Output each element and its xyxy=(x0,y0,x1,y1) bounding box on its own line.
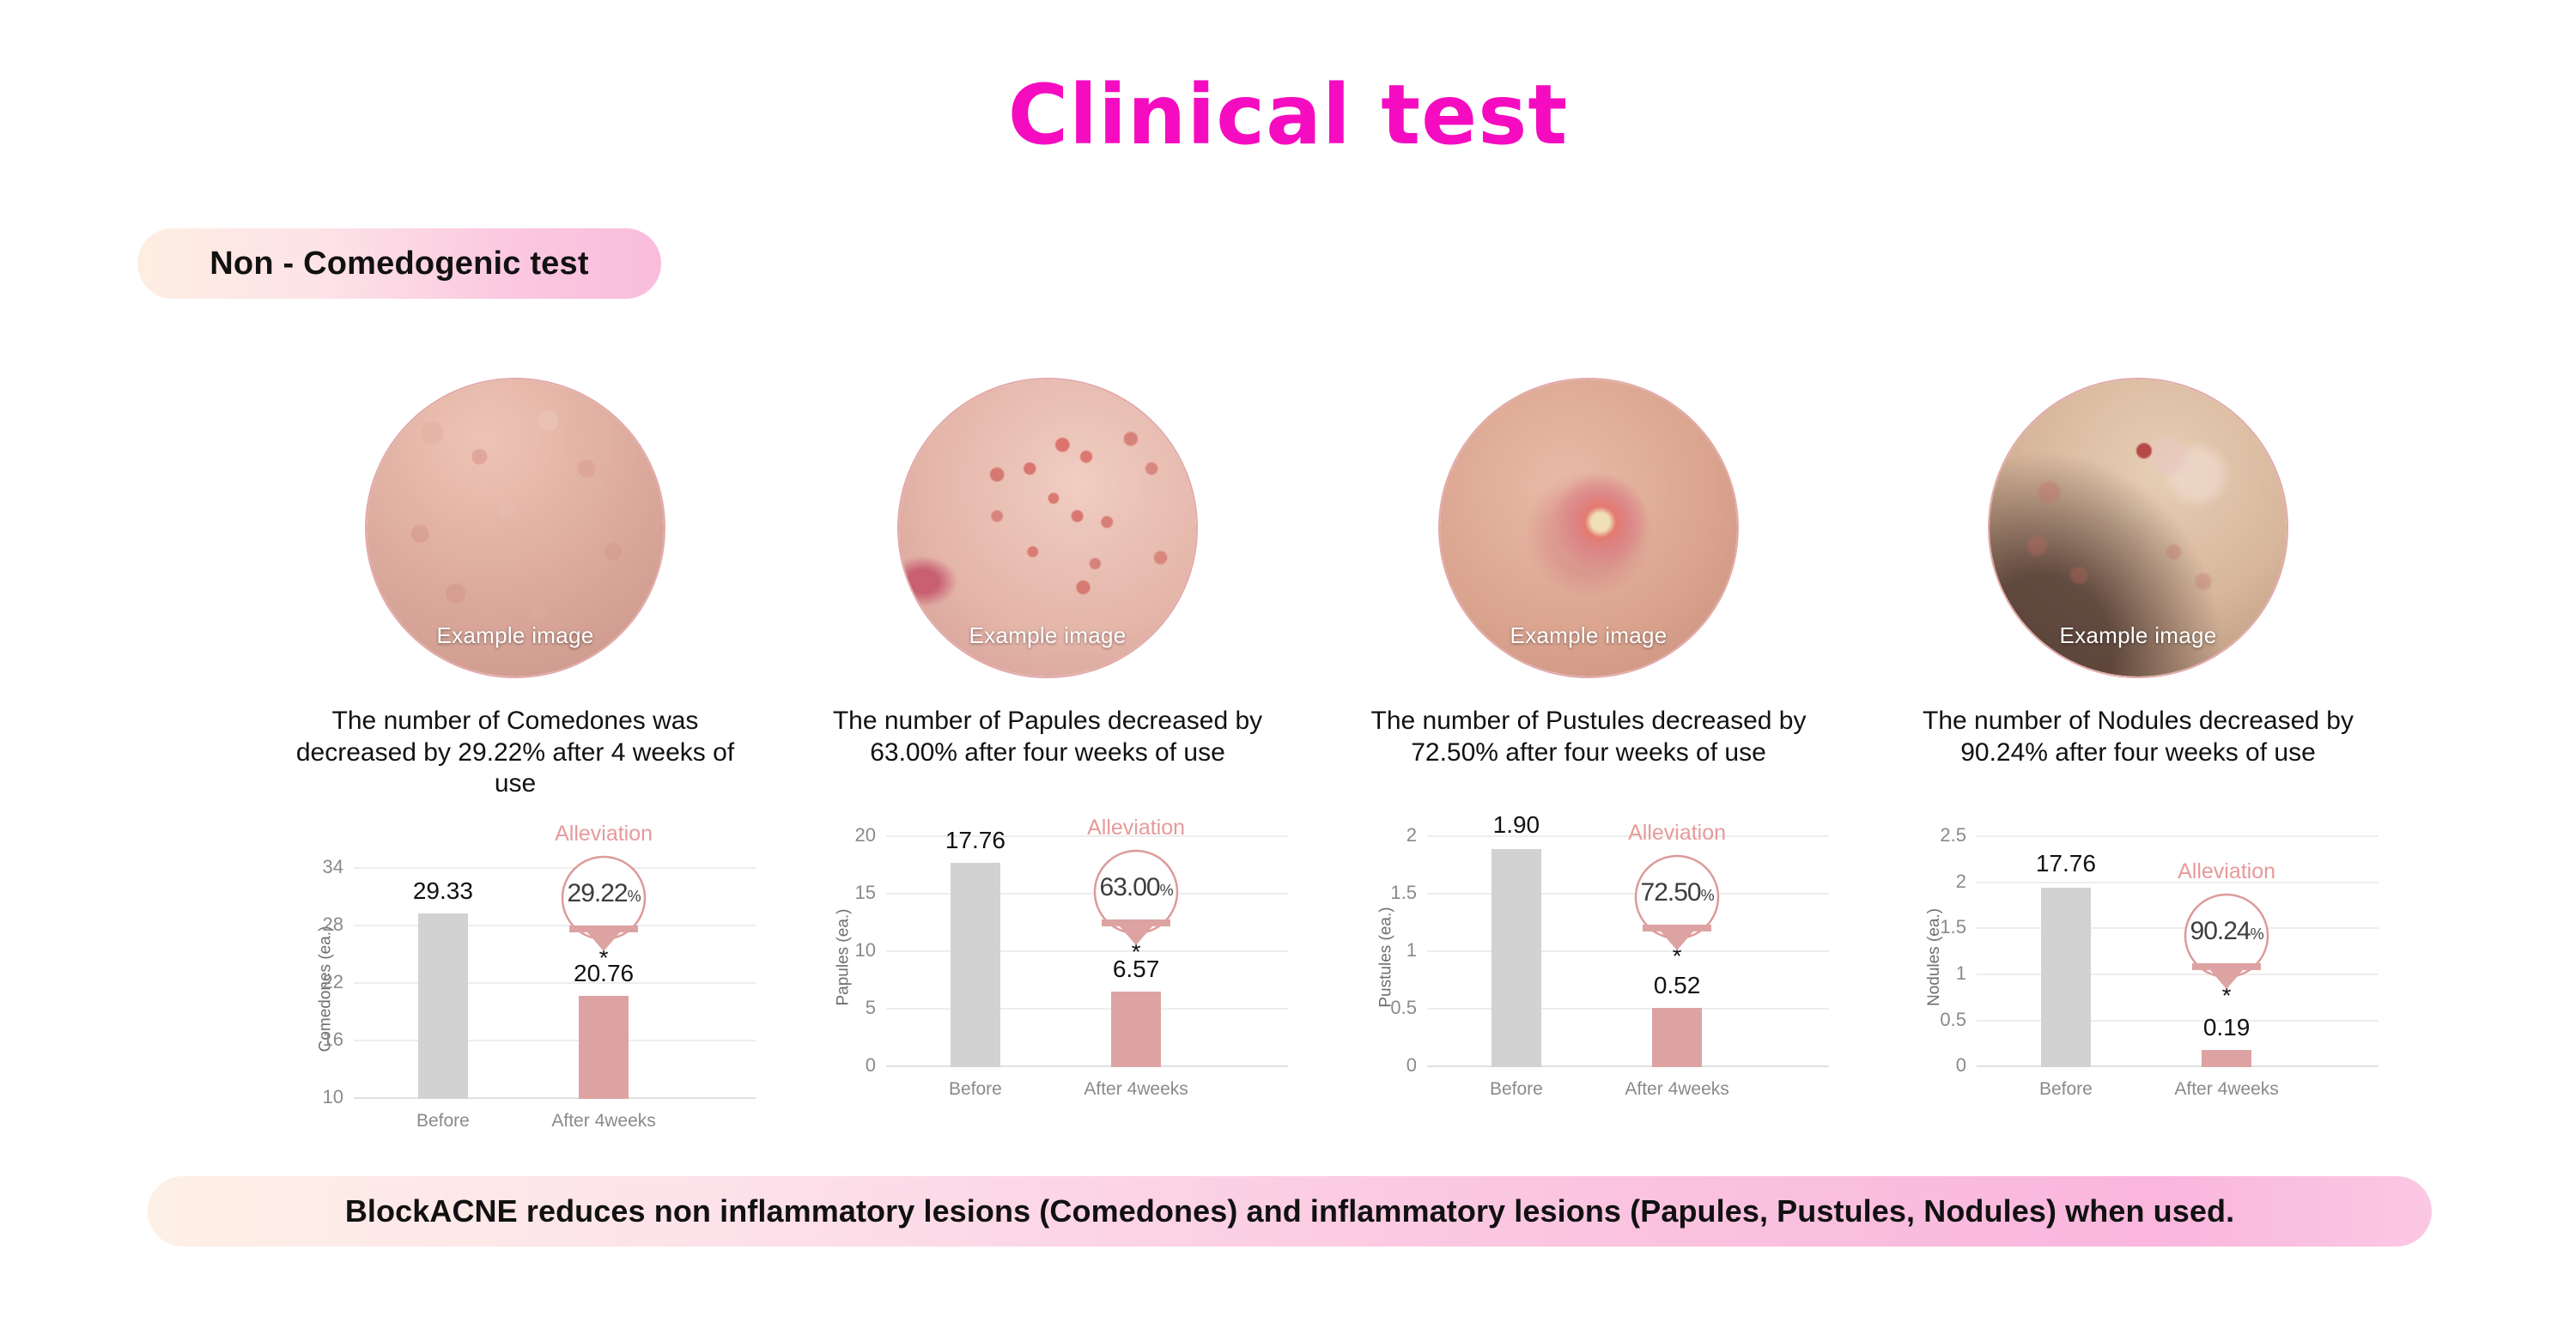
gridline-baseline: 0 xyxy=(1427,1065,1829,1067)
x-tick-label-before: Before xyxy=(416,1111,470,1132)
gridline: 2.5 xyxy=(1977,835,2379,837)
gridline: 0.5 xyxy=(1977,1020,2379,1022)
bar-value-after: 0.19 xyxy=(2203,1014,2251,1041)
bar-before: 17.76 Before xyxy=(2041,888,2091,1067)
y-tick-label: 2 xyxy=(1406,824,1417,846)
results-columns: Example image The number of Comedones wa… xyxy=(0,378,2576,1144)
percent-symbol: % xyxy=(628,888,641,905)
y-tick-label: 2.5 xyxy=(1940,824,1966,846)
x-tick-label-before: Before xyxy=(1490,1079,1543,1100)
y-tick-label: 20 xyxy=(855,824,876,846)
y-tick-label: 16 xyxy=(323,1029,343,1051)
percent-symbol: % xyxy=(1701,887,1714,904)
alleviation-marker: Alleviation 63.00% xyxy=(1072,816,1200,945)
alleviation-marker: Alleviation 29.22% xyxy=(539,822,668,951)
gridline: 0.5 xyxy=(1427,1008,1829,1010)
example-photo-nodules: Example image xyxy=(1988,378,2288,678)
photo-caption: Example image xyxy=(899,622,1196,649)
alleviation-value: 63.00% xyxy=(1085,873,1187,902)
result-caption-pustules: The number of Pustules decreased by 72.5… xyxy=(1348,706,1829,768)
y-tick-label: 22 xyxy=(323,971,343,993)
result-caption-nodules: The number of Nodules decreased by 90.24… xyxy=(1898,706,2379,768)
bar-after: 0.19 After 4weeks xyxy=(2202,1050,2251,1067)
y-tick-label: 5 xyxy=(866,997,876,1019)
alleviation-balloon: 90.24% xyxy=(2176,888,2277,989)
page-title-text: Clinical test xyxy=(1008,67,1569,163)
alleviation-balloon: 63.00% xyxy=(1085,844,1187,945)
bar-value-before: 29.33 xyxy=(413,877,473,905)
x-tick-label-before: Before xyxy=(949,1079,1002,1100)
percent-symbol: % xyxy=(1160,882,1173,899)
bar-after: 6.57 After 4weeks xyxy=(1111,992,1161,1067)
section-badge-non-comedogenic-test: Non - Comedogenic test xyxy=(137,228,661,299)
gridline: 1 xyxy=(1427,950,1829,952)
x-tick-label-after: After 4weeks xyxy=(1625,1079,1728,1100)
alleviation-label: Alleviation xyxy=(1072,816,1200,840)
bar-value-before: 17.76 xyxy=(2036,850,2096,877)
gridline-baseline: 0 xyxy=(1977,1065,2379,1067)
y-axis-title: Pustules (ea.) xyxy=(1377,907,1396,1008)
alleviation-value: 29.22% xyxy=(553,879,654,908)
gridline: 22 xyxy=(354,982,756,984)
result-column-pustules: Example image The number of Pustules dec… xyxy=(1322,378,1855,1144)
alleviation-balloon: 29.22% xyxy=(553,850,654,951)
result-column-papules: Example image The number of Papules decr… xyxy=(781,378,1314,1144)
bar-value-before: 1.90 xyxy=(1493,811,1540,839)
y-tick-label: 15 xyxy=(855,882,876,904)
y-tick-label: 2 xyxy=(1956,871,1966,893)
result-column-nodules: Example image The number of Nodules decr… xyxy=(1872,378,2404,1144)
bar-before: 17.76 Before xyxy=(951,863,1000,1067)
x-tick-label-after: After 4weeks xyxy=(2174,1079,2278,1100)
bar-chart-pustules: Pustules (ea.) 2 1.5 1 0.5 0 xyxy=(1348,803,1829,1112)
gridline: 5 xyxy=(886,1008,1288,1010)
bar-chart-papules: Papules (ea.) 20 15 10 5 0 xyxy=(807,803,1288,1112)
alleviation-value: 72.50% xyxy=(1626,878,1728,907)
page-title: Clinical test xyxy=(0,74,2576,156)
bar-chart-comedones: Comedones (ea.) 34 28 22 16 10 xyxy=(275,834,756,1144)
gridline-baseline: 0 xyxy=(886,1065,1288,1067)
photo-caption: Example image xyxy=(1440,622,1737,649)
alleviation-marker: Alleviation 90.24% xyxy=(2162,859,2291,989)
y-tick-label: 28 xyxy=(323,913,343,936)
bar-after: 20.76 After 4weeks xyxy=(579,996,629,1099)
alleviation-percent-number: 72.50 xyxy=(1641,878,1701,907)
photo-caption: Example image xyxy=(1990,622,2287,649)
y-tick-label: 10 xyxy=(323,1086,343,1108)
alleviation-label: Alleviation xyxy=(539,822,668,846)
gridline: 10 xyxy=(886,950,1288,952)
alleviation-label: Alleviation xyxy=(1613,821,1741,846)
x-tick-label-before: Before xyxy=(2039,1079,2093,1100)
plot-area: 20 15 10 5 0 17.76 Before xyxy=(886,837,1288,1067)
bar-value-after: 0.52 xyxy=(1654,972,1701,999)
alleviation-percent-number: 29.22 xyxy=(568,879,628,907)
footer-summary-banner: BlockACNE reduces non inflammatory lesio… xyxy=(148,1176,2432,1247)
y-tick-label: 1.5 xyxy=(1390,882,1417,904)
plot-area: 34 28 22 16 10 29.33 Before xyxy=(354,869,756,1099)
alleviation-marker: Alleviation 72.50% xyxy=(1613,821,1741,950)
alleviation-percent-number: 63.00 xyxy=(1100,873,1160,901)
alleviation-percent-number: 90.24 xyxy=(2190,917,2251,945)
result-caption-papules: The number of Papules decreased by 63.00… xyxy=(807,706,1288,768)
gridline: 16 xyxy=(354,1040,756,1041)
bar-chart-nodules: Nodules (ea.) 2.5 2 1.5 1 0.5 0 xyxy=(1898,803,2379,1112)
plot-area: 2 1.5 1 0.5 0 1.90 Before xyxy=(1427,837,1829,1067)
y-tick-label: 10 xyxy=(855,939,876,962)
y-tick-label: 0 xyxy=(1956,1054,1966,1077)
section-badge-label: Non - Comedogenic test xyxy=(210,246,588,282)
bar-after: 0.52 After 4weeks xyxy=(1652,1008,1702,1068)
y-tick-label: 0.5 xyxy=(1390,997,1417,1019)
y-tick-label: 34 xyxy=(323,856,343,878)
plot-area: 2.5 2 1.5 1 0.5 0 17.7 xyxy=(1977,837,2379,1067)
y-tick-label: 1 xyxy=(1956,962,1966,985)
bar-value-before: 17.76 xyxy=(945,827,1005,854)
example-photo-comedones: Example image xyxy=(365,378,665,678)
result-column-comedones: Example image The number of Comedones wa… xyxy=(249,378,781,1144)
example-photo-pustules: Example image xyxy=(1438,378,1739,678)
result-caption-comedones: The number of Comedones was decreased by… xyxy=(275,706,756,800)
bar-before: 1.90 Before xyxy=(1492,849,1541,1068)
y-tick-label: 1.5 xyxy=(1940,916,1966,938)
percent-symbol: % xyxy=(2251,925,2263,943)
gridline-baseline: 10 xyxy=(354,1097,756,1099)
y-tick-label: 1 xyxy=(1406,939,1417,962)
alleviation-value: 90.24% xyxy=(2176,917,2277,946)
y-tick-label: 0 xyxy=(866,1054,876,1077)
photo-caption: Example image xyxy=(367,622,664,649)
y-tick-label: 0 xyxy=(1406,1054,1417,1077)
y-tick-label: 0.5 xyxy=(1940,1009,1966,1031)
bar-before: 29.33 Before xyxy=(418,913,468,1099)
alleviation-balloon: 72.50% xyxy=(1626,849,1728,950)
x-tick-label-after: After 4weeks xyxy=(1084,1079,1188,1100)
alleviation-label: Alleviation xyxy=(2162,859,2291,884)
example-photo-papules: Example image xyxy=(897,378,1198,678)
y-axis-title: Papules (ea.) xyxy=(835,909,854,1006)
x-tick-label-after: After 4weeks xyxy=(551,1111,655,1132)
footer-summary-text: BlockACNE reduces non inflammatory lesio… xyxy=(345,1193,2234,1229)
